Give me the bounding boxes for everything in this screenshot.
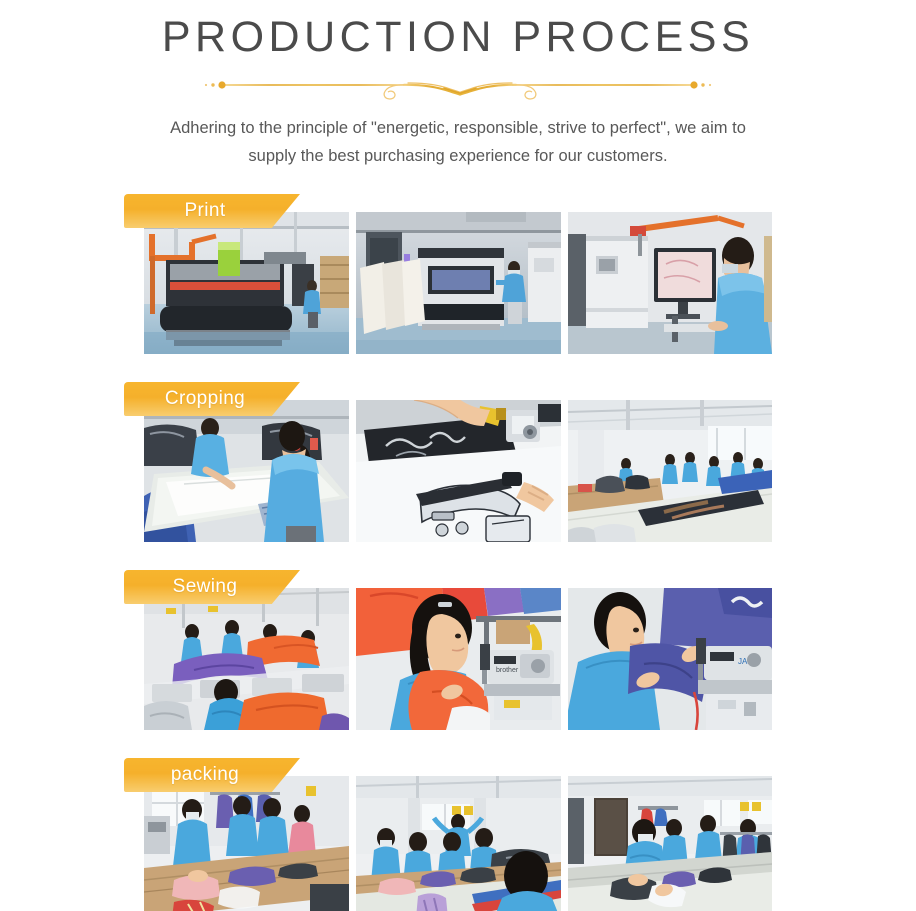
photo-sewing-1	[144, 588, 349, 730]
photo-packing-2	[356, 776, 561, 911]
process-row-packing: packing	[0, 758, 916, 911]
ribbon-label-cropping: Cropping	[124, 382, 300, 416]
photo-print-3	[568, 212, 772, 354]
process-row-print: Print	[0, 194, 916, 382]
page-title: PRODUCTION PROCESS	[0, 8, 916, 66]
photo-cropping-3	[568, 400, 772, 542]
subtitle-line-2: supply the best purchasing experience fo…	[138, 142, 778, 170]
subtitle-line-1: Adhering to the principle of "energetic,…	[138, 114, 778, 142]
photo-packing-1	[144, 776, 349, 911]
photo-packing-3	[568, 776, 772, 911]
photo-sewing-2: brother	[356, 588, 561, 730]
process-row-sewing: Sewing	[0, 570, 916, 758]
page-subtitle: Adhering to the principle of "energetic,…	[138, 114, 778, 170]
production-process-page: PRODUCTION PROCESS	[0, 0, 916, 911]
svg-text:brother: brother	[496, 667, 519, 674]
shot-strip-packing	[144, 776, 772, 911]
photo-print-1	[144, 212, 349, 354]
process-rows: Print	[0, 194, 916, 911]
process-row-cropping: Cropping	[0, 382, 916, 570]
ribbon-label-packing: packing	[124, 758, 300, 792]
ribbon-label-sewing: Sewing	[124, 570, 300, 604]
shot-strip-sewing: brother	[144, 588, 772, 730]
photo-print-2	[356, 212, 561, 354]
ribbon-label-print: Print	[124, 194, 300, 228]
shot-strip-print	[144, 212, 772, 354]
photo-cropping-2	[356, 400, 561, 542]
page-header: PRODUCTION PROCESS	[0, 0, 916, 170]
photo-sewing-3: JAKI	[568, 588, 772, 730]
ornamental-flourish-divider-icon	[198, 72, 718, 100]
shot-strip-cropping	[144, 400, 772, 542]
photo-cropping-1	[144, 400, 349, 542]
